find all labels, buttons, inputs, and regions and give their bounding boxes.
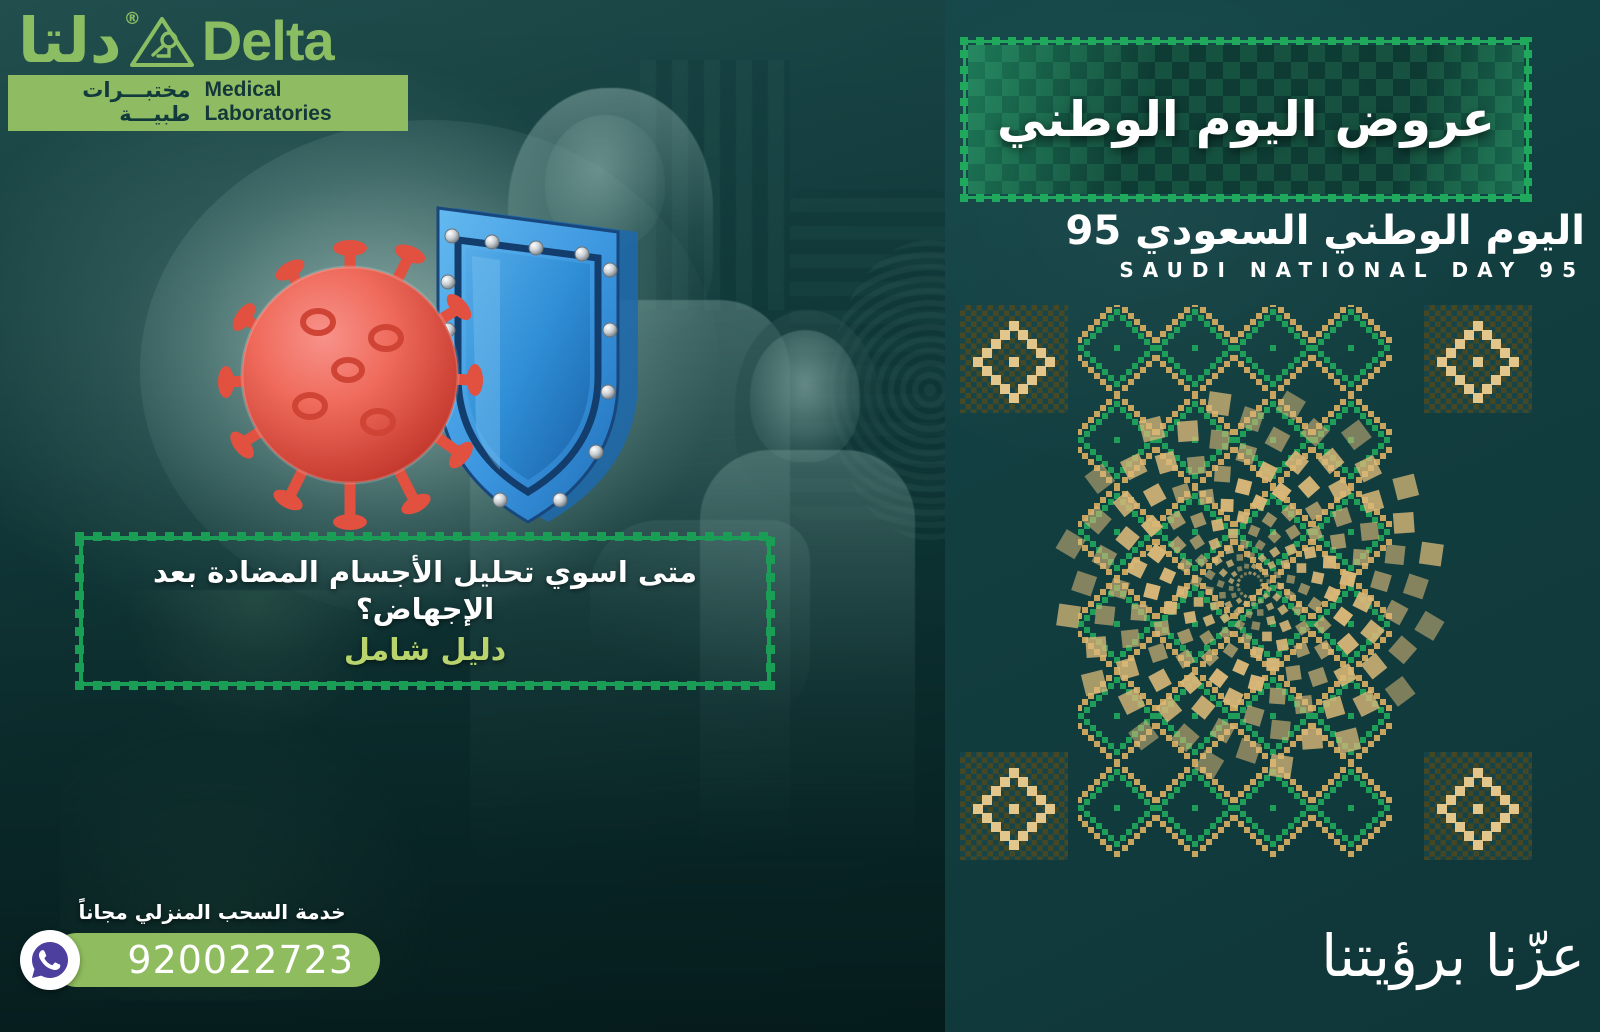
- sadu-geometric-pattern: [960, 305, 1532, 860]
- whatsapp-icon[interactable]: [20, 930, 80, 990]
- national-day-panel: عروض اليوم الوطني اليوم الوطني السعودي 9…: [945, 0, 1600, 1032]
- logo-english-name: Delta: [202, 13, 334, 69]
- national-day-title-arabic: اليوم الوطني السعودي 95: [1013, 208, 1585, 254]
- protection-shield-icon: [438, 208, 638, 522]
- phone-number-pill[interactable]: 920022723: [50, 933, 380, 987]
- headline-question: متى اسوي تحليل الأجسام المضادة بعد الإجه…: [107, 554, 743, 627]
- offers-title-box: عروض اليوم الوطني: [960, 37, 1532, 202]
- logo-tagline-bar: مختبـــرات طبيـــة Medical Laboratories: [8, 75, 408, 131]
- logo-arabic-name: دلتا: [18, 10, 122, 72]
- registered-mark: ®: [124, 9, 141, 29]
- headline-content: متى اسوي تحليل الأجسام المضادة بعد الإجه…: [81, 538, 769, 684]
- sadu-left-column: [960, 305, 1068, 860]
- offers-title-text: عروض اليوم الوطني: [960, 37, 1532, 202]
- logo-wordmark-row: دلتا ® Delta: [8, 10, 408, 72]
- logo-tagline-arabic: مختبـــرات طبيـــة: [22, 78, 190, 126]
- spiral-rosette-ornament: [1055, 390, 1445, 780]
- logo-tagline-english: Medical Laboratories: [204, 78, 394, 126]
- national-day-slogan: عزّنا برؤيتنا: [985, 922, 1585, 990]
- headline-subtitle: دليل شامل: [344, 633, 506, 668]
- virus-shield-illustration: [200, 170, 670, 550]
- home-service-note: خدمة السحب المنزلي مجاناً: [20, 900, 380, 924]
- contact-block: خدمة السحب المنزلي مجاناً 920022723: [20, 900, 380, 990]
- phone-number: 920022723: [127, 938, 354, 982]
- promotional-banner: دلتا ® Delta مختبـــرات طبيـــة Medical …: [0, 0, 1600, 1032]
- microscope-triangle-icon: ®: [128, 13, 196, 69]
- national-day-title-english: SAUDI NATIONAL DAY 95: [1013, 258, 1585, 282]
- headline-stamp-box: متى اسوي تحليل الأجسام المضادة بعد الإجه…: [75, 532, 775, 690]
- phone-row[interactable]: 920022723: [20, 930, 380, 990]
- delta-logo: دلتا ® Delta مختبـــرات طبيـــة Medical …: [8, 10, 408, 131]
